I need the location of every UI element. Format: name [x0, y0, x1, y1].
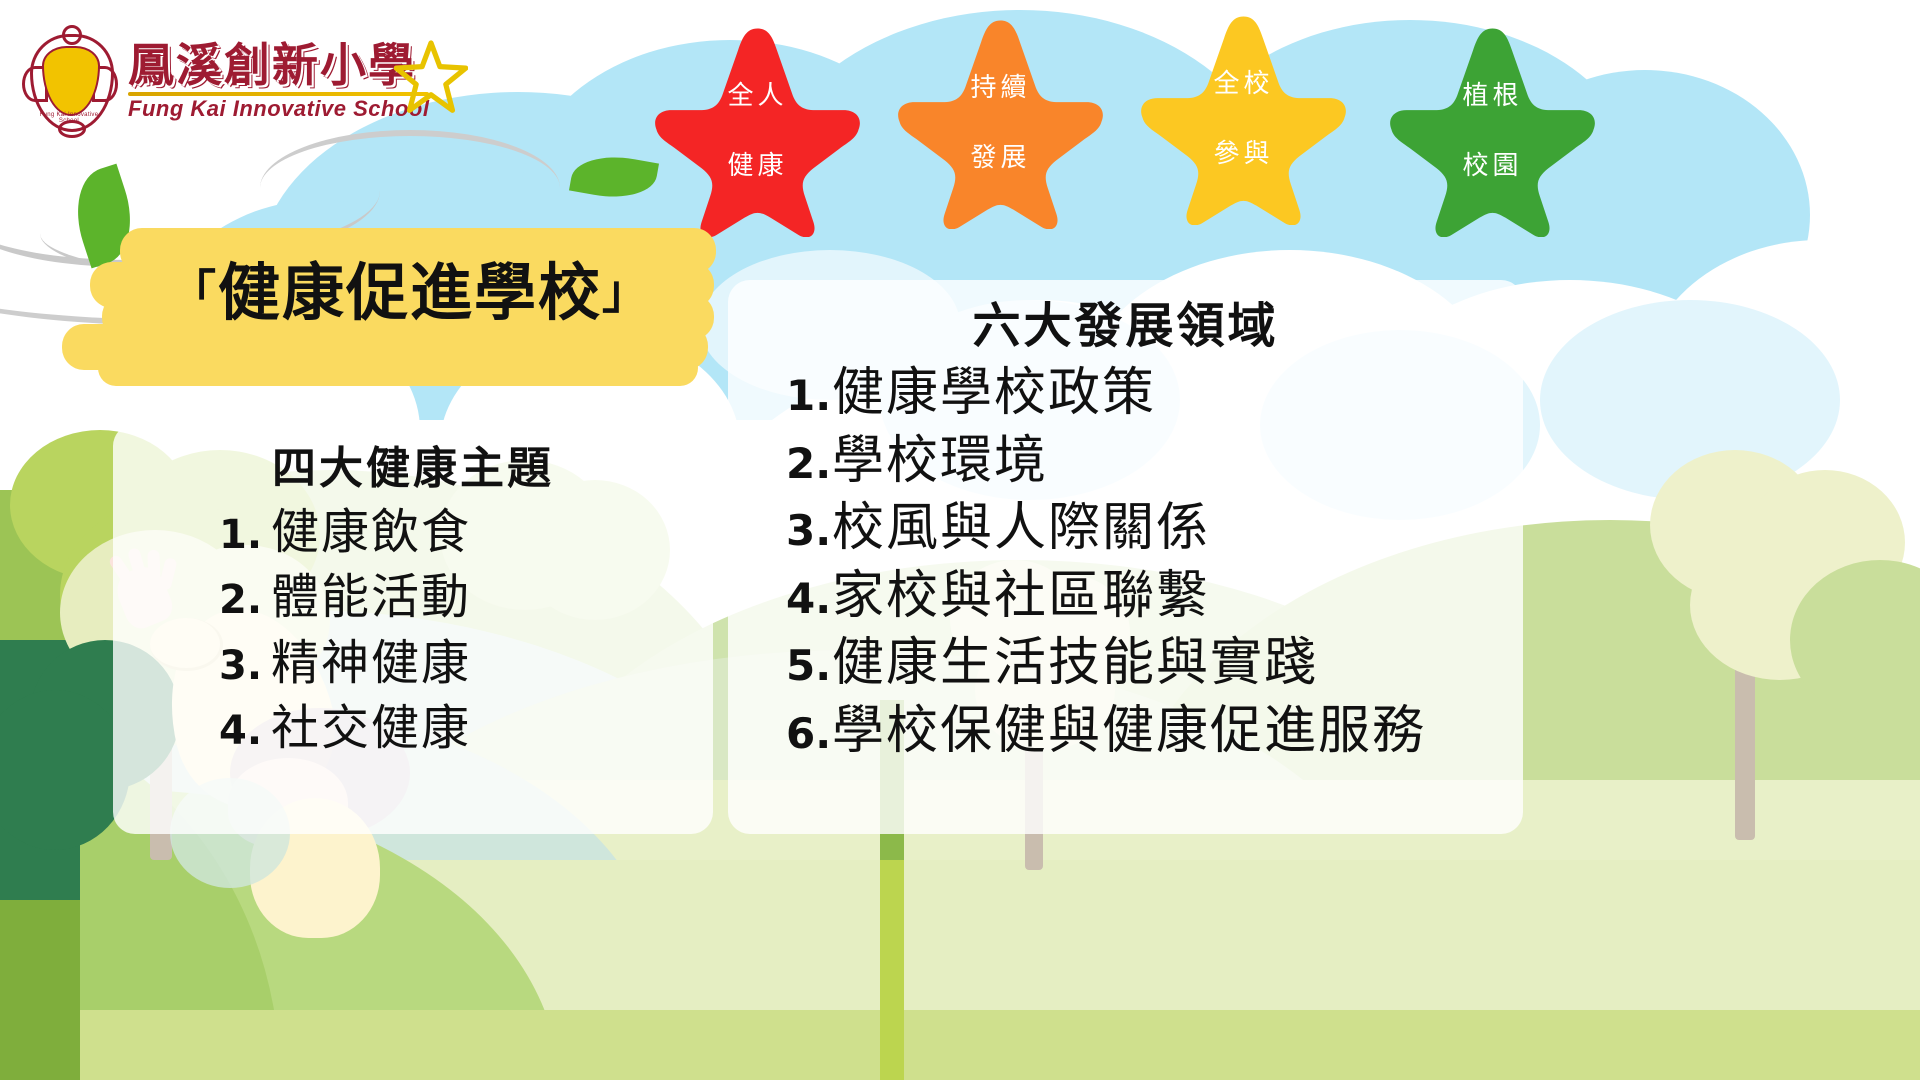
list-item-number: 4.	[786, 572, 832, 627]
list-item-label: 健康學校政策	[832, 360, 1156, 428]
logo-star-icon	[394, 40, 468, 114]
star-holistic-health[interactable]: 全人 健康	[650, 22, 865, 237]
list-item[interactable]: 5. 健康生活技能與實踐	[728, 630, 1523, 698]
school-logo: Fung Kai Innovative School 鳳溪創新小學 Fung K…	[22, 18, 442, 143]
poster-canvas: Fung Kai Innovative School 鳳溪創新小學 Fung K…	[0, 0, 1920, 1080]
list-item[interactable]: 6. 學校保健與健康促進服務	[728, 698, 1523, 766]
list-item[interactable]: 2. 體能活動	[113, 565, 713, 630]
list-item[interactable]: 1. 健康學校政策	[728, 360, 1523, 428]
list-item-number: 5.	[786, 639, 832, 694]
list-item-number: 3.	[219, 639, 271, 693]
four-health-themes-list: 1. 健康飲食 2. 體能活動 3. 精神健康 4. 社交健康	[113, 500, 713, 761]
list-item[interactable]: 2. 學校環境	[728, 428, 1523, 496]
star-whole-school-participation[interactable]: 全校 參與	[1136, 10, 1351, 225]
list-item-label: 社交健康	[271, 696, 471, 761]
star-sustainable-development[interactable]: 持續 發展	[893, 14, 1108, 229]
title-close-quote: 」	[602, 265, 650, 319]
school-name-english: Fung Kai Innovative School	[128, 98, 429, 120]
list-item-label: 體能活動	[271, 565, 471, 630]
list-item-label: 精神健康	[271, 631, 471, 696]
list-item-number: 1.	[786, 369, 832, 424]
school-name-chinese: 鳳溪創新小學	[128, 42, 429, 88]
list-item-number: 3.	[786, 504, 832, 559]
list-item[interactable]: 1. 健康飲食	[113, 500, 713, 565]
crest-caption: Fung Kai Innovative School	[36, 112, 102, 124]
logo-divider	[128, 92, 429, 96]
four-health-themes-content: 四大健康主題 1. 健康飲食 2. 體能活動 3. 精神健康 4. 社交健康	[113, 432, 713, 761]
list-item-number: 2.	[786, 437, 832, 492]
six-development-areas-content: 六大發展領域 1. 健康學校政策 2. 學校環境 3. 校風與人際關係 4. 家…	[728, 286, 1523, 766]
list-item[interactable]: 3. 精神健康	[113, 631, 713, 696]
value-stars-group: 全人 健康 持續 發展 全校 參與	[650, 14, 1920, 244]
list-item-label: 學校保健與健康促進服務	[832, 698, 1426, 766]
six-development-areas-list: 1. 健康學校政策 2. 學校環境 3. 校風與人際關係 4. 家校與社區聯繫 …	[728, 360, 1523, 766]
right-panel-title: 六大發展領域	[728, 286, 1523, 356]
title-main-text: 健康促進學校	[218, 256, 602, 329]
list-item-number: 6.	[786, 707, 832, 762]
list-item-number: 4.	[219, 704, 271, 758]
center-lime-stripe	[880, 860, 904, 1080]
list-item[interactable]: 3. 校風與人際關係	[728, 495, 1523, 563]
school-crest-icon: Fung Kai Innovative School	[22, 26, 118, 136]
list-item-number: 2.	[219, 573, 271, 627]
list-item-label: 校風與人際關係	[832, 495, 1210, 563]
list-item-label: 家校與社區聯繫	[832, 563, 1210, 631]
page-title: 「健康促進學校」	[80, 262, 740, 324]
list-item-label: 健康生活技能與實踐	[832, 630, 1318, 698]
left-panel-title: 四大健康主題	[113, 432, 713, 496]
list-item[interactable]: 4. 社交健康	[113, 696, 713, 761]
list-item[interactable]: 4. 家校與社區聯繫	[728, 563, 1523, 631]
title-open-quote: 「	[170, 265, 218, 319]
list-item-label: 學校環境	[832, 428, 1048, 496]
list-item-number: 1.	[219, 508, 271, 562]
star-rooted-in-campus[interactable]: 植根 校園	[1385, 22, 1600, 237]
list-item-label: 健康飲食	[271, 500, 471, 565]
